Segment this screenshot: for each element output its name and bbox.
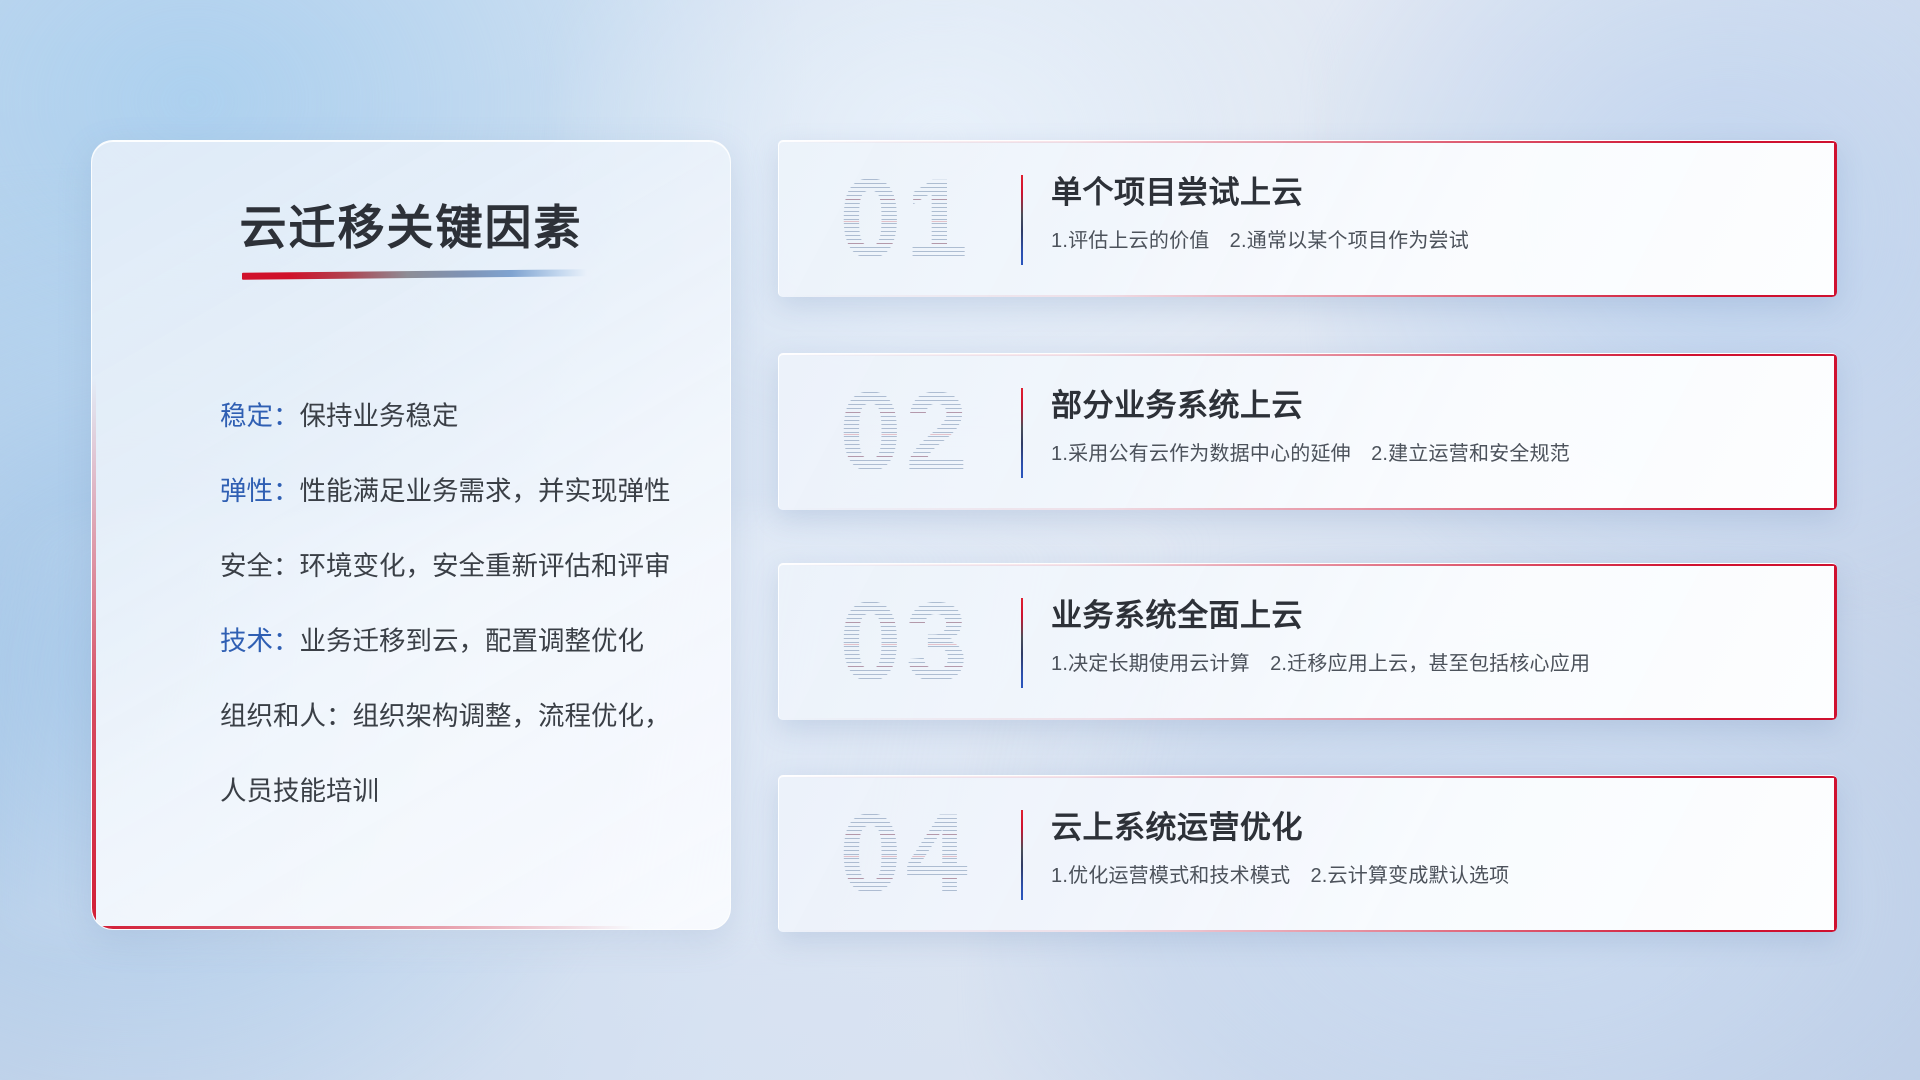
stage-card[interactable]: 0404云上系统运营优化1.优化运营模式和技术模式 2.云计算变成默认选项 — [778, 775, 1837, 932]
card-title: 单个项目尝试上云 — [1051, 167, 1303, 212]
key-factor-text: 保持业务稳定 — [300, 401, 459, 431]
card-description: 1.评估上云的价值 2.通常以某个项目作为尝试 — [1051, 224, 1469, 253]
key-factor-label: 稳定： — [220, 401, 300, 431]
card-accent-right — [1834, 564, 1837, 720]
card-accent-bottom — [779, 508, 1837, 510]
card-divider-bar — [1021, 810, 1023, 900]
key-factor-row: 人员技能培训 — [220, 754, 690, 829]
card-accent-right — [1834, 141, 1837, 297]
card-accent-bottom — [779, 930, 1837, 932]
slide-stage: 云迁移关键因素 稳定：保持业务稳定弹性：性能满足业务需求，并实现弹性安全：环境变… — [0, 0, 1920, 1080]
key-factor-text: 环境变化，安全重新评估和评审 — [300, 551, 671, 581]
card-divider-bar — [1021, 598, 1023, 688]
card-title: 云上系统运营优化 — [1051, 802, 1303, 847]
key-factor-row: 组织和人：组织架构调整，流程优化， — [220, 679, 690, 754]
card-step-number: 02 — [813, 368, 998, 496]
key-factor-label: 组织和人： — [220, 701, 353, 731]
card-title: 部分业务系统上云 — [1051, 380, 1303, 425]
key-factor-text: 组织架构调整，流程优化， — [353, 701, 671, 731]
key-factor-row: 弹性：性能满足业务需求，并实现弹性 — [220, 454, 690, 529]
card-accent-top — [779, 354, 1837, 356]
card-divider-bar — [1021, 388, 1023, 478]
card-accent-bottom — [779, 718, 1837, 720]
key-factor-text: 人员技能培训 — [220, 776, 379, 806]
panel-title: 云迁移关键因素 — [92, 189, 730, 258]
key-factors-list: 稳定：保持业务稳定弹性：性能满足业务需求，并实现弹性安全：环境变化，安全重新评估… — [220, 379, 690, 829]
key-factor-row: 安全：环境变化，安全重新评估和评审 — [220, 529, 690, 604]
stage-card[interactable]: 0303业务系统全面上云1.决定长期使用云计算 2.迁移应用上云，甚至包括核心应… — [778, 563, 1837, 720]
card-step-number: 01 — [813, 155, 998, 283]
card-accent-right — [1834, 354, 1837, 510]
card-accent-bottom — [779, 295, 1837, 297]
key-factor-text: 性能满足业务需求，并实现弹性 — [300, 476, 671, 506]
card-step-number: 04 — [813, 790, 998, 918]
title-underline-rule — [242, 269, 587, 280]
card-accent-top — [779, 564, 1837, 566]
card-title: 业务系统全面上云 — [1051, 590, 1303, 635]
key-factors-panel: 云迁移关键因素 稳定：保持业务稳定弹性：性能满足业务需求，并实现弹性安全：环境变… — [91, 140, 731, 930]
key-factor-row: 稳定：保持业务稳定 — [220, 379, 690, 454]
stage-card[interactable]: 0202部分业务系统上云1.采用公有云作为数据中心的延伸 2.建立运营和安全规范 — [778, 353, 1837, 510]
key-factor-label: 弹性： — [220, 476, 300, 506]
key-factor-label: 安全： — [220, 551, 300, 581]
stage-card[interactable]: 0101单个项目尝试上云1.评估上云的价值 2.通常以某个项目作为尝试 — [778, 140, 1837, 297]
card-description: 1.优化运营模式和技术模式 2.云计算变成默认选项 — [1051, 859, 1509, 888]
key-factor-text: 业务迁移到云，配置调整优化 — [300, 626, 645, 656]
card-accent-top — [779, 141, 1837, 143]
key-factor-label: 技术： — [220, 626, 300, 656]
card-divider-bar — [1021, 175, 1023, 265]
card-step-number: 03 — [813, 578, 998, 706]
key-factor-row: 技术：业务迁移到云，配置调整优化 — [220, 604, 690, 679]
card-accent-right — [1834, 776, 1837, 932]
card-accent-top — [779, 776, 1837, 778]
card-description: 1.采用公有云作为数据中心的延伸 2.建立运营和安全规范 — [1051, 437, 1570, 466]
card-description: 1.决定长期使用云计算 2.迁移应用上云，甚至包括核心应用 — [1051, 647, 1590, 676]
